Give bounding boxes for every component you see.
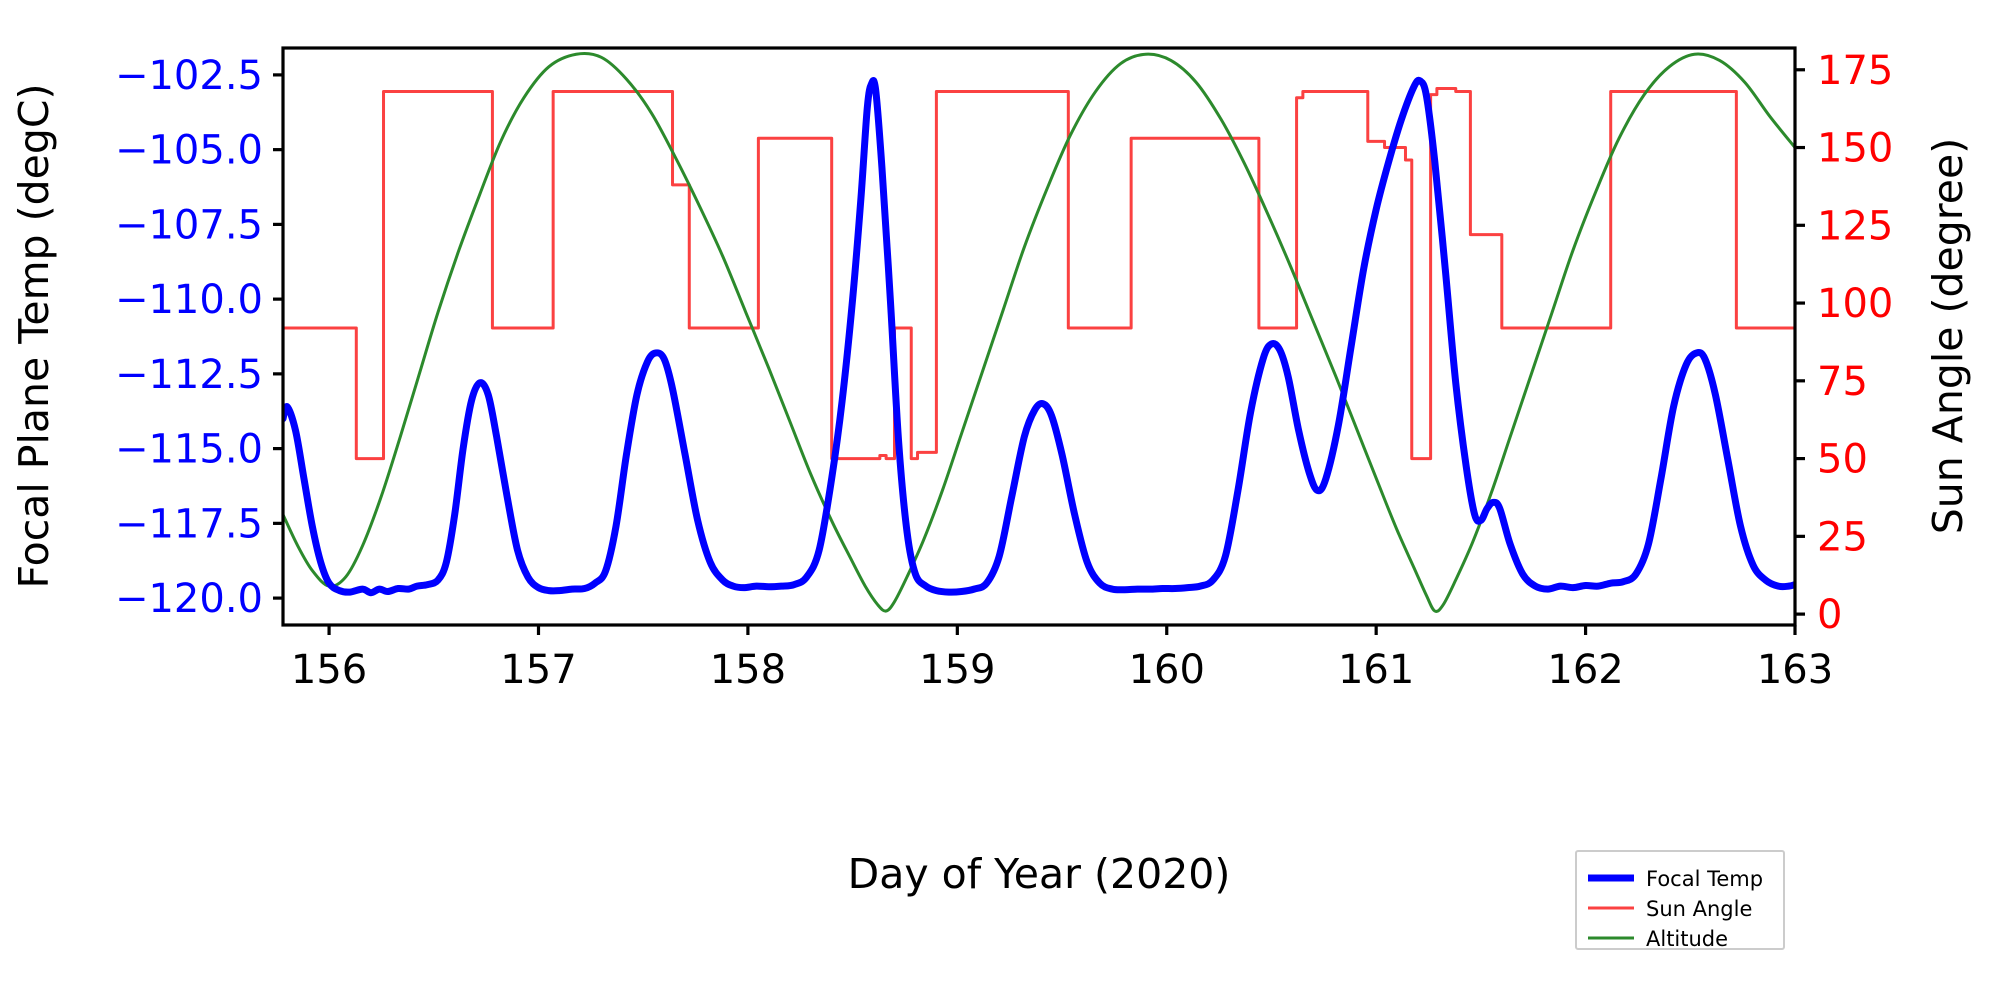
x-tick-label: 162 xyxy=(1547,647,1623,693)
y-left-tick-label: −105.0 xyxy=(115,128,263,174)
y-right-tick-label: 175 xyxy=(1817,48,1893,94)
x-tick-label: 160 xyxy=(1129,647,1205,693)
y-left-tick-label: −120.0 xyxy=(115,576,263,622)
y-right-tick-label: 125 xyxy=(1817,203,1893,249)
y-right-tick-label: 25 xyxy=(1817,514,1868,560)
y-left-tick-label: −115.0 xyxy=(115,427,263,473)
x-axis-title: Day of Year (2020) xyxy=(848,850,1231,898)
x-tick-label: 163 xyxy=(1757,647,1833,693)
legend-label-sun-angle: Sun Angle xyxy=(1646,897,1752,921)
x-tick-label: 156 xyxy=(291,647,367,693)
chart-svg: 156157158159160161162163 −102.5−105.0−10… xyxy=(0,0,2000,1000)
x-axis-ticks: 156157158159160161162163 xyxy=(291,625,1833,693)
y-left-tick-label: −102.5 xyxy=(115,53,263,99)
y-right-tick-label: 50 xyxy=(1817,437,1868,483)
legend-label-focal-temp: Focal Temp xyxy=(1646,867,1763,891)
y-left-tick-label: −112.5 xyxy=(115,352,263,398)
y-axis-right-ticks: 0255075100125150175 xyxy=(1795,48,1893,638)
y-right-tick-label: 75 xyxy=(1817,359,1868,405)
y-right-tick-label: 0 xyxy=(1817,592,1842,638)
y-left-tick-label: −110.0 xyxy=(115,277,263,323)
plot-background xyxy=(283,48,1795,625)
y-right-tick-label: 100 xyxy=(1817,281,1893,327)
y-left-tick-label: −107.5 xyxy=(115,202,263,248)
y-right-tick-label: 150 xyxy=(1817,126,1893,172)
y-axis-left-ticks: −102.5−105.0−107.5−110.0−112.5−115.0−117… xyxy=(115,53,283,622)
x-tick-label: 159 xyxy=(919,647,995,693)
y-left-tick-label: −117.5 xyxy=(115,501,263,547)
chart-legend[interactable]: Focal TempSun AngleAltitude xyxy=(1576,851,1784,951)
x-tick-label: 157 xyxy=(500,647,576,693)
y-axis-right-title: Sun Angle (degree) xyxy=(1924,138,1972,534)
x-tick-label: 158 xyxy=(710,647,786,693)
legend-label-altitude: Altitude xyxy=(1646,927,1728,951)
y-axis-left-title: Focal Plane Temp (degC) xyxy=(10,84,58,589)
x-tick-label: 161 xyxy=(1338,647,1414,693)
chart-figure: 156157158159160161162163 −102.5−105.0−10… xyxy=(0,0,2000,1000)
